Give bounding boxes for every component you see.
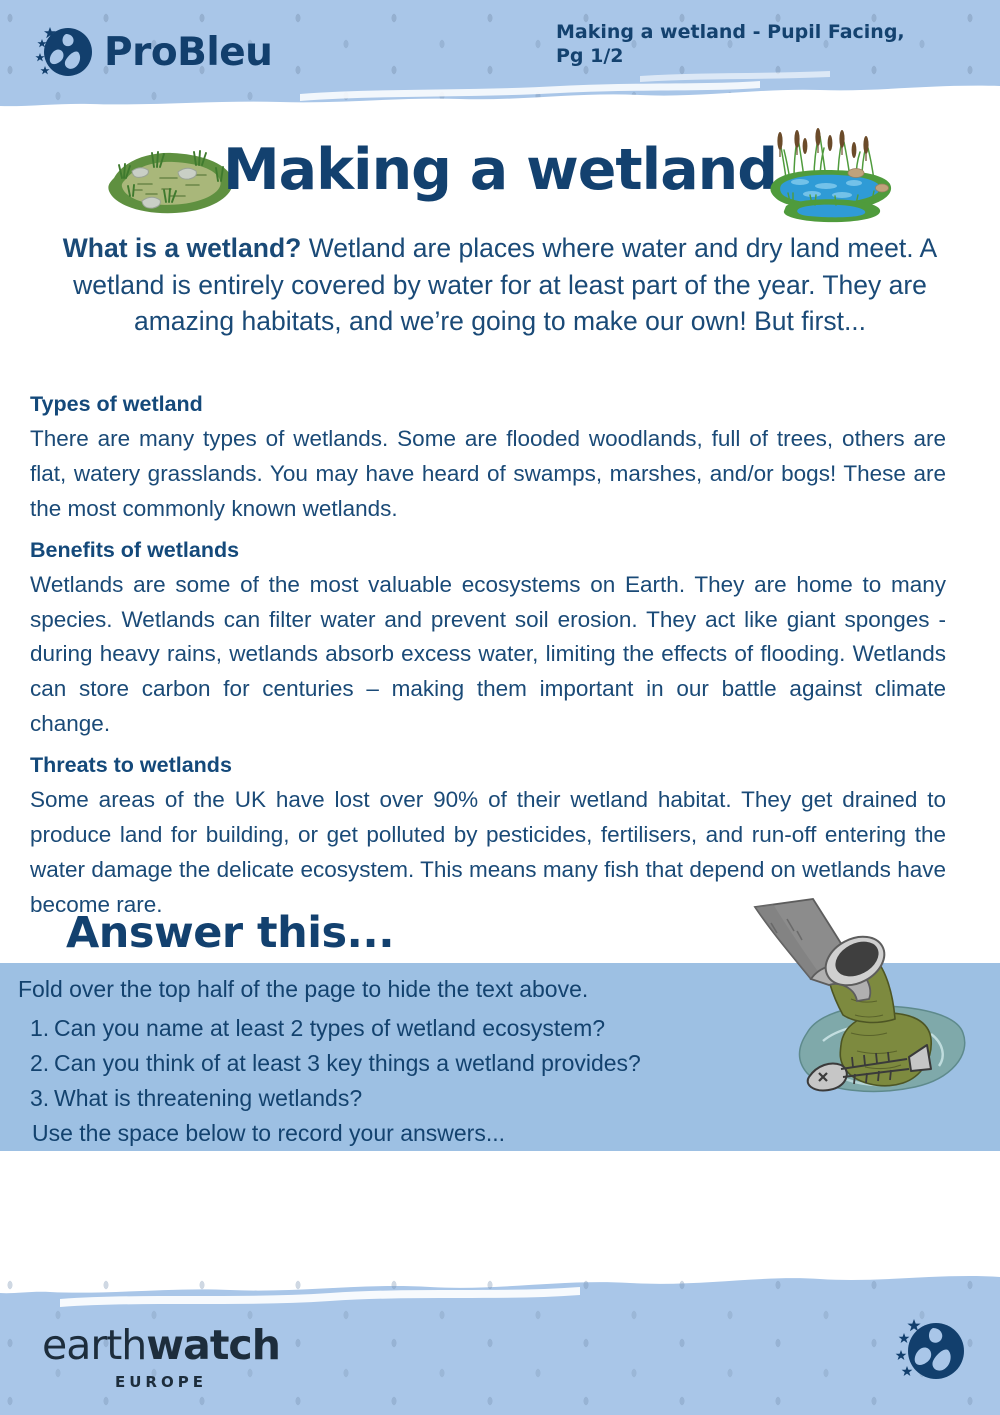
header-band: ProBleu Making a wetland - Pupil Facing,… xyxy=(0,0,1000,112)
question-number: 3. xyxy=(30,1081,52,1116)
document-title-header: Making a wetland - Pupil Facing, Pg 1/2 xyxy=(556,20,936,69)
answer-footer-note: Use the space below to record your answe… xyxy=(32,1119,505,1149)
section-body-benefits: Wetlands are some of the most valuable e… xyxy=(30,568,946,742)
answer-lead-instruction: Fold over the top half of the page to hi… xyxy=(18,975,588,1005)
earthwatch-wordmark: earthwatch xyxy=(42,1325,280,1366)
section-body-types: There are many types of wetlands. Some a… xyxy=(30,422,946,527)
question-number: 1. xyxy=(30,1011,52,1046)
list-item: 1. Can you name at least 2 types of wetl… xyxy=(30,1011,641,1046)
question-text: Can you name at least 2 types of wetland… xyxy=(54,1011,605,1046)
answer-this-heading: Answer this... xyxy=(66,912,394,955)
probleu-swirl-logo-icon xyxy=(34,22,94,82)
question-text: Can you think of at least 3 key things a… xyxy=(54,1046,641,1081)
footer-band: earthwatch EUROPE xyxy=(0,1265,1000,1415)
reedbed-wetland-illustration-icon xyxy=(756,126,906,230)
section-heading-threats: Threats to wetlands xyxy=(30,751,946,780)
earthwatch-subtitle: EUROPE xyxy=(42,1373,280,1391)
question-number: 2. xyxy=(30,1046,52,1081)
polluting-pipe-with-dead-fish-illustration-icon xyxy=(745,893,1000,1118)
probleu-logo: ProBleu xyxy=(34,22,272,82)
body-sections: Types of wetland There are many types of… xyxy=(30,390,946,923)
list-item: 2. Can you think of at least 3 key thing… xyxy=(30,1046,641,1081)
worksheet-page: ProBleu Making a wetland - Pupil Facing,… xyxy=(0,0,1000,1415)
section-heading-benefits: Benefits of wetlands xyxy=(30,536,946,565)
earthwatch-word-bold: watch xyxy=(146,1321,280,1369)
question-list: 1. Can you name at least 2 types of wetl… xyxy=(30,1011,641,1116)
probleu-wordmark: ProBleu xyxy=(104,33,272,72)
earthwatch-logo: earthwatch EUROPE xyxy=(42,1325,280,1391)
intro-paragraph: What is a wetland? Wetland are places wh… xyxy=(44,230,956,340)
list-item: 3. What is threatening wetlands? xyxy=(30,1081,641,1116)
earthwatch-word-light: earth xyxy=(42,1321,146,1369)
intro-lead-bold: What is a wetland? xyxy=(63,233,302,263)
question-text: What is threatening wetlands? xyxy=(54,1081,362,1116)
section-heading-types: Types of wetland xyxy=(30,390,946,419)
probleu-swirl-logo-icon-footer xyxy=(894,1315,966,1387)
title-row: Making a wetland xyxy=(0,126,1000,228)
